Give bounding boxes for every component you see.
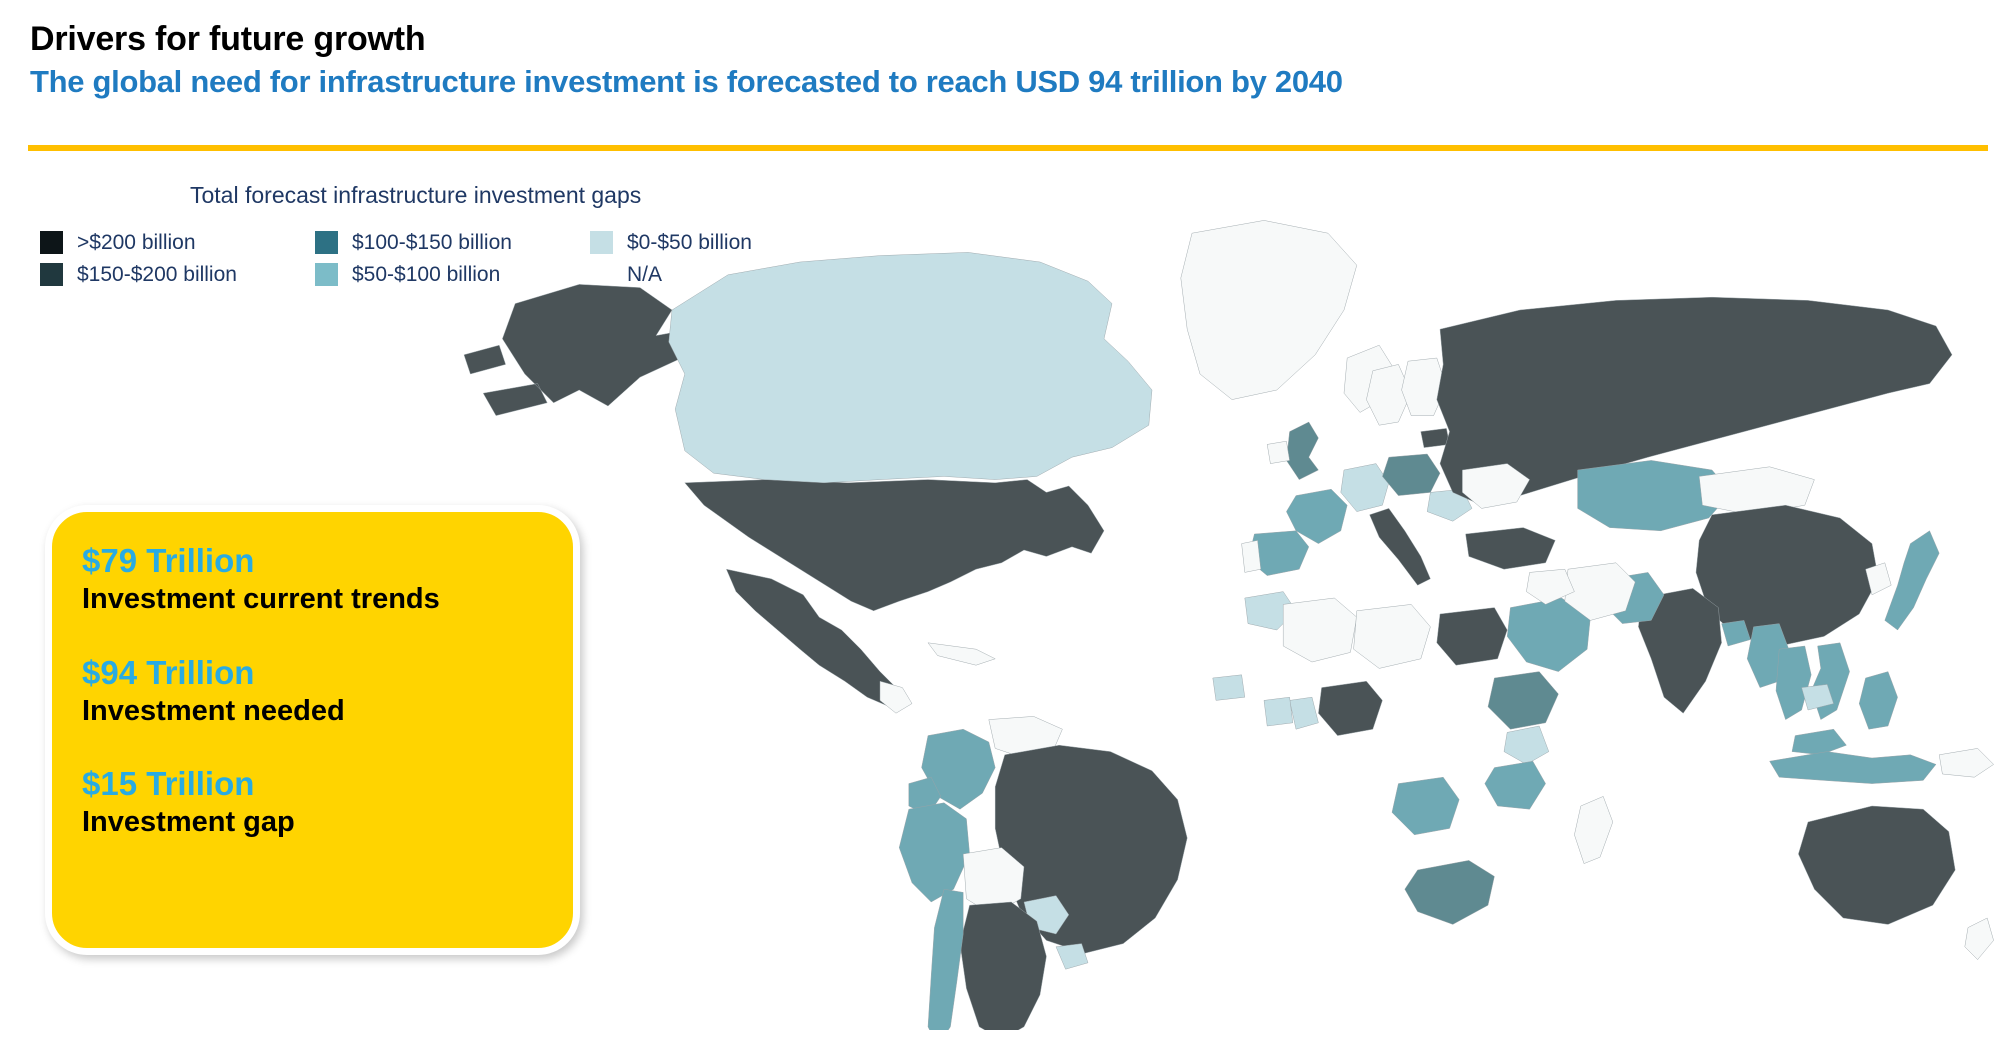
map-region-united-kingdom[interactable]: [1286, 422, 1318, 480]
map-region-germany[interactable]: [1341, 464, 1389, 512]
map-region-ethiopia[interactable]: [1488, 672, 1558, 730]
page-title: Drivers for future growth: [30, 20, 425, 59]
map-region-algeria[interactable]: [1283, 598, 1357, 662]
stat-label: Investment current trends: [82, 581, 573, 617]
legend-swatch-icon: [315, 263, 338, 286]
map-region-egypt[interactable]: [1437, 608, 1507, 666]
map-region-italy[interactable]: [1370, 508, 1431, 585]
map-region-libya[interactable]: [1354, 604, 1431, 668]
map-region-turkey[interactable]: [1466, 528, 1556, 570]
page-subtitle: The global need for infrastructure inves…: [30, 64, 1343, 100]
map-svg: [400, 150, 2000, 1030]
map-region-ireland[interactable]: [1267, 441, 1289, 463]
map-region-tanzania[interactable]: [1485, 761, 1546, 809]
stat-label: Investment gap: [82, 804, 573, 840]
stat-value: $94 Trillion: [82, 652, 573, 693]
map-region-lithuania[interactable]: [1421, 428, 1450, 447]
stat-current-trends: $79 Trillion Investment current trends: [82, 540, 573, 618]
map-region-poland[interactable]: [1382, 454, 1440, 496]
map-region-australia[interactable]: [1798, 806, 1955, 924]
map-region-argentina[interactable]: [960, 902, 1046, 1030]
map-region-malaysia[interactable]: [1792, 729, 1846, 755]
slide-root: Drivers for future growth The global nee…: [0, 0, 2000, 1039]
map-region-mongolia[interactable]: [1699, 467, 1814, 515]
map-region-guatemala[interactable]: [880, 681, 912, 713]
map-region-papua-new-guinea[interactable]: [1939, 748, 1993, 777]
map-region-greenland[interactable]: [1181, 220, 1357, 399]
legend-swatch-icon: [40, 263, 63, 286]
stat-value: $15 Trillion: [82, 763, 573, 804]
stat-investment-needed: $94 Trillion Investment needed: [82, 652, 573, 730]
map-region-thailand[interactable]: [1776, 646, 1811, 720]
map-region-south-africa[interactable]: [1405, 860, 1495, 924]
map-region-vietnam[interactable]: [1811, 643, 1849, 720]
stat-investment-gap: $15 Trillion Investment gap: [82, 763, 573, 841]
map-region-madagascar[interactable]: [1574, 796, 1612, 863]
legend-column-1: >$200 billion $150-$200 billion: [40, 229, 315, 287]
stat-label: Investment needed: [82, 693, 573, 729]
stat-value: $79 Trillion: [82, 540, 573, 581]
map-region-ghana[interactable]: [1290, 697, 1319, 729]
map-region-peru[interactable]: [899, 803, 969, 902]
investment-callout-card: $79 Trillion Investment current trends $…: [45, 505, 580, 955]
legend-swatch-icon: [315, 231, 338, 254]
legend-item-label: $150-$200 billion: [77, 264, 237, 285]
map-region-portugal[interactable]: [1242, 540, 1261, 572]
map-region-cuba[interactable]: [928, 643, 995, 665]
legend-item-150-200[interactable]: $150-$200 billion: [40, 261, 315, 287]
map-region-senegal[interactable]: [1213, 675, 1245, 701]
world-choropleth-map[interactable]: [400, 150, 2000, 1030]
map-region-kenya[interactable]: [1504, 726, 1549, 764]
legend-item-label: >$200 billion: [77, 232, 196, 253]
map-region-nigeria[interactable]: [1318, 681, 1382, 735]
map-region-japan[interactable]: [1885, 531, 1939, 630]
map-region-philippines[interactable]: [1859, 672, 1897, 730]
legend-swatch-icon: [40, 231, 63, 254]
map-region-angola[interactable]: [1392, 777, 1459, 835]
legend-item-over-200[interactable]: >$200 billion: [40, 229, 315, 255]
map-region-new-zealand[interactable]: [1965, 918, 1994, 960]
map-region-ivory-coast[interactable]: [1264, 697, 1293, 726]
map-region-indonesia[interactable]: [1770, 752, 1936, 784]
map-region-alaska[interactable]: [464, 284, 691, 415]
map-region-chile[interactable]: [928, 889, 963, 1030]
map-region-canada[interactable]: [669, 252, 1152, 482]
